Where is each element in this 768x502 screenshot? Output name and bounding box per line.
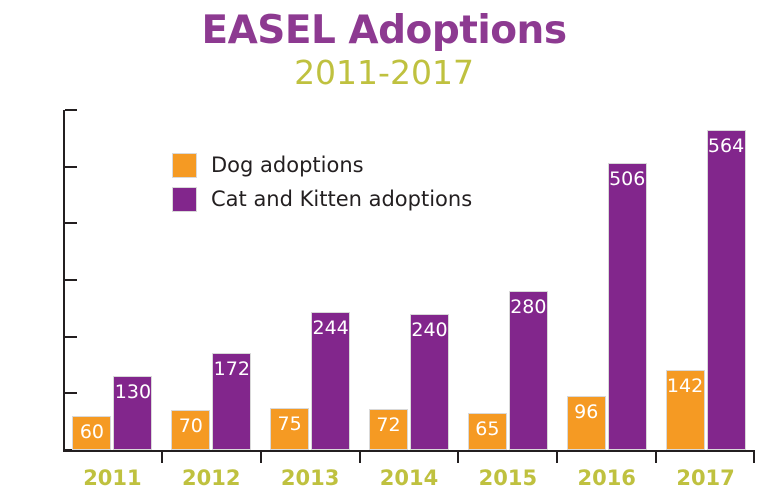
y-axis-tick bbox=[65, 222, 77, 224]
bar-value-label: 506 bbox=[609, 168, 646, 190]
bar-cat-2016: 506 bbox=[608, 163, 647, 450]
x-axis-minor-tick bbox=[655, 452, 657, 463]
legend-item-cat-adoptions: Cat and Kitten adoptions bbox=[172, 182, 472, 216]
bar-value-label: 564 bbox=[708, 135, 745, 157]
bar-dog-2013: 75 bbox=[270, 408, 309, 451]
bar-value-label: 142 bbox=[667, 375, 704, 397]
y-axis-tick bbox=[65, 166, 77, 168]
x-axis-minor-tick bbox=[359, 452, 361, 463]
x-axis-minor-tick bbox=[753, 452, 755, 463]
x-axis-minor-tick bbox=[556, 452, 558, 463]
bar-dog-2014: 72 bbox=[369, 409, 408, 450]
bar-value-label: 65 bbox=[469, 418, 506, 440]
y-axis-tick bbox=[65, 279, 77, 281]
title-block: EASEL Adoptions 2011-2017 bbox=[0, 8, 768, 92]
y-axis-tick bbox=[65, 109, 77, 111]
x-axis-label-2012: 2012 bbox=[162, 466, 261, 490]
x-axis-label-2014: 2014 bbox=[360, 466, 459, 490]
bar-value-label: 72 bbox=[370, 414, 407, 436]
bar-dog-2012: 70 bbox=[171, 410, 210, 450]
bar-value-label: 96 bbox=[568, 401, 605, 423]
bar-value-label: 172 bbox=[213, 358, 250, 380]
bar-value-label: 240 bbox=[411, 319, 448, 341]
page-title: EASEL Adoptions bbox=[0, 8, 768, 54]
legend-label-cat: Cat and Kitten adoptions bbox=[211, 187, 472, 211]
x-axis-label-2015: 2015 bbox=[458, 466, 557, 490]
bar-dog-2011: 60 bbox=[72, 416, 111, 450]
bar-value-label: 244 bbox=[312, 317, 349, 339]
x-axis-line bbox=[63, 450, 755, 452]
legend-swatch-icon-dog bbox=[172, 153, 197, 178]
chart-legend: Dog adoptions Cat and Kitten adoptions bbox=[172, 148, 472, 216]
y-axis-tick bbox=[65, 392, 77, 394]
bar-cat-2015: 280 bbox=[509, 291, 548, 450]
bar-cat-2013: 244 bbox=[311, 312, 350, 450]
bar-value-label: 75 bbox=[271, 413, 308, 435]
legend-label-dog: Dog adoptions bbox=[211, 153, 364, 177]
x-axis-minor-tick bbox=[457, 452, 459, 463]
bar-value-label: 70 bbox=[172, 415, 209, 437]
bar-value-label: 130 bbox=[114, 381, 151, 403]
x-axis-label-2011: 2011 bbox=[63, 466, 162, 490]
bar-cat-2012: 172 bbox=[212, 353, 251, 450]
x-axis-label-2013: 2013 bbox=[261, 466, 360, 490]
bar-dog-2015: 65 bbox=[468, 413, 507, 450]
bar-cat-2011: 130 bbox=[113, 376, 152, 450]
legend-swatch-icon-cat bbox=[172, 187, 197, 212]
x-axis-minor-tick bbox=[260, 452, 262, 463]
legend-item-dog-adoptions: Dog adoptions bbox=[172, 148, 472, 182]
y-axis-tick bbox=[65, 336, 77, 338]
bar-value-label: 280 bbox=[510, 296, 547, 318]
page-subtitle: 2011-2017 bbox=[0, 54, 768, 92]
x-axis-label-2016: 2016 bbox=[557, 466, 656, 490]
bar-dog-2016: 96 bbox=[567, 396, 606, 450]
bar-dog-2017: 142 bbox=[666, 370, 705, 450]
x-axis-minor-tick bbox=[161, 452, 163, 463]
x-axis-label-2017: 2017 bbox=[656, 466, 755, 490]
bar-cat-2014: 240 bbox=[410, 314, 449, 450]
bar-value-label: 60 bbox=[73, 421, 110, 443]
bar-cat-2017: 564 bbox=[707, 130, 746, 450]
